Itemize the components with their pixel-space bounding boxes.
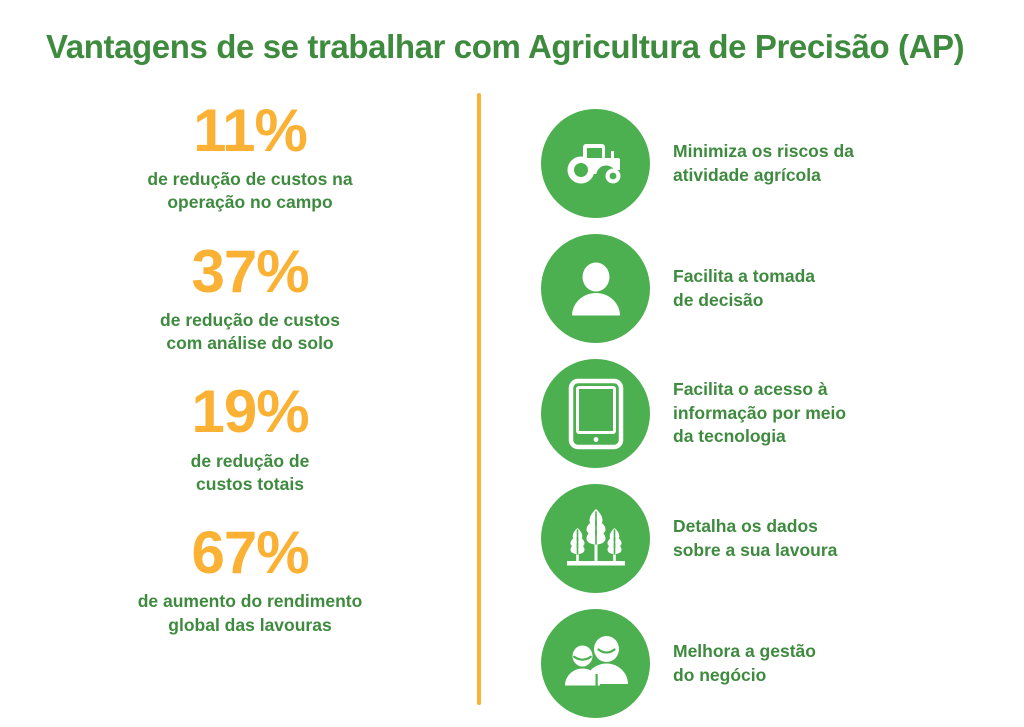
tablet-icon [541,359,650,468]
stat-value: 11% [40,100,460,161]
benefit-item: Melhora a gestão do negócio [541,609,981,718]
stat-label: de redução de custos totais [40,450,460,497]
stat-item: 67% de aumento do rendimento global das … [40,522,460,637]
benefit-label: Minimiza os riscos da atividade agrícola [673,140,854,187]
stat-item: 11% de redução de custos na operação no … [40,100,460,215]
benefit-label: Facilita o acesso à informação por meio … [673,378,846,448]
stat-item: 37% de redução de custos com análise do … [40,241,460,356]
benefit-item: Minimiza os riscos da atividade agrícola [541,109,981,218]
benefit-label: Melhora a gestão do negócio [673,640,816,687]
infographic-page: Vantagens de se trabalhar com Agricultur… [0,0,1024,727]
stat-value: 19% [40,381,460,442]
benefit-item: Detalha os dados sobre a sua lavoura [541,484,981,593]
stat-value: 67% [40,522,460,583]
stat-item: 19% de redução de custos totais [40,381,460,496]
benefit-item: Facilita a tomada de decisão [541,234,981,343]
stat-label: de redução de custos com análise do solo [40,309,460,356]
person-icon [541,234,650,343]
page-title: Vantagens de se trabalhar com Agricultur… [46,28,996,66]
tractor-icon [541,109,650,218]
vertical-divider [477,93,481,705]
benefit-item: Facilita o acesso à informação por meio … [541,359,981,468]
stat-label: de redução de custos na operação no camp… [40,168,460,215]
statistics-column: 11% de redução de custos na operação no … [40,100,460,637]
benefit-label: Facilita a tomada de decisão [673,265,815,312]
stat-label: de aumento do rendimento global das lavo… [40,590,460,637]
people-icon [541,609,650,718]
benefits-column: Minimiza os riscos da atividade agrícola… [541,109,981,718]
stat-value: 37% [40,241,460,302]
wheat-icon [541,484,650,593]
benefit-label: Detalha os dados sobre a sua lavoura [673,515,837,562]
